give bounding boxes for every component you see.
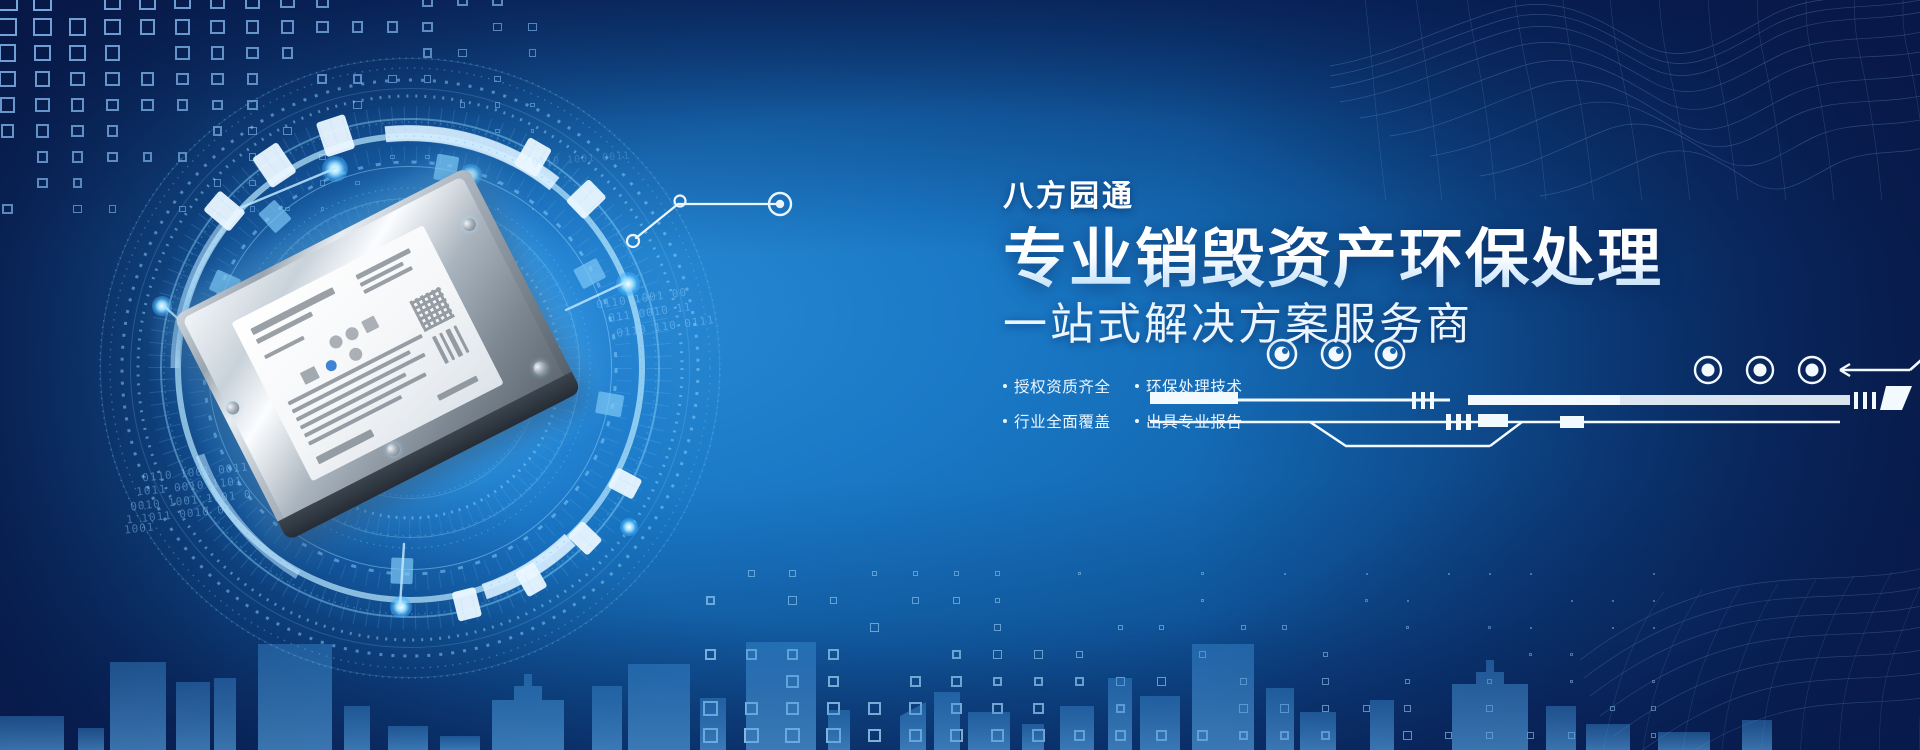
- feature-label: 环保处理技术: [1146, 375, 1243, 397]
- grid-square: [174, 0, 191, 9]
- connector-node-end-dot: [776, 200, 784, 208]
- grid-square: [316, 21, 328, 33]
- grid-square: [35, 98, 49, 112]
- grid-square: [0, 0, 18, 11]
- grid-square: [0, 18, 17, 37]
- grid-square: [528, 23, 536, 31]
- feature-label: 授权资质齐全: [1014, 375, 1111, 397]
- grid-square: [281, 20, 294, 33]
- grid-square: [210, 0, 226, 9]
- bullet-dot-icon: [1135, 384, 1139, 388]
- bullet-dot-icon: [1003, 419, 1007, 423]
- hdd-screw: [461, 216, 478, 233]
- grid-square: [140, 19, 156, 35]
- headline: 专业销毁资产环保处理: [1003, 226, 1763, 293]
- hdd-barcode: [409, 286, 455, 332]
- grid-square: [493, 23, 502, 32]
- feature-item: 环保处理技术: [1135, 375, 1265, 397]
- bullet-dot-icon: [1135, 419, 1139, 423]
- circuit-node: [1799, 357, 1825, 383]
- grid-square: [1, 124, 15, 138]
- feature-label: 行业全面覆盖: [1014, 410, 1111, 432]
- connector-node-start: [627, 235, 639, 247]
- grid-square: [316, 0, 330, 8]
- grid-square: [245, 0, 260, 9]
- banner-copy: 八方园通 专业销毁资产环保处理 一站式解决方案服务商 授权资质齐全环保处理技术行…: [1003, 182, 1763, 445]
- grid-square: [387, 21, 398, 32]
- subheadline: 一站式解决方案服务商: [1003, 301, 1763, 349]
- feature-list: 授权资质齐全环保处理技术行业全面覆盖出具专业报告: [1003, 375, 1303, 432]
- grid-square: [34, 45, 51, 62]
- grid-square: [492, 0, 502, 6]
- grid-square: [33, 18, 51, 36]
- hdd-screw: [224, 399, 241, 416]
- grid-square: [175, 19, 190, 34]
- hdd-screw: [531, 359, 548, 376]
- grid-square: [35, 71, 51, 87]
- grid-square: [280, 0, 294, 8]
- feature-row: 授权资质齐全环保处理技术: [1003, 375, 1303, 397]
- feature-item: 出具专业报告: [1135, 410, 1265, 432]
- connector-line: [600, 150, 860, 260]
- grid-square: [139, 0, 156, 10]
- grid-square: [33, 0, 52, 11]
- feature-item: 授权资质齐全: [1003, 375, 1135, 397]
- grid-square: [104, 19, 121, 36]
- grid-square: [104, 0, 122, 10]
- grid-square: [36, 124, 49, 137]
- grid-square: [0, 97, 15, 112]
- hdd-tech-visual: 0110 1001 0011 1011 0010 1101 0010 1001 …: [60, 48, 760, 688]
- hero-banner: 0110 1001 0011 1011 0010 1101 0010 1001 …: [0, 0, 1920, 750]
- hdd-screw: [384, 441, 401, 458]
- grid-square: [37, 178, 48, 189]
- grid-square: [37, 151, 49, 163]
- grid-square: [0, 44, 16, 62]
- grid-square: [69, 18, 86, 35]
- grid-square: [352, 21, 364, 33]
- feature-item: 行业全面覆盖: [1003, 410, 1135, 432]
- grid-square: [2, 204, 12, 214]
- feature-label: 出具专业报告: [1146, 410, 1243, 432]
- grid-square: [210, 20, 225, 35]
- brand-name: 八方园通: [1003, 182, 1763, 212]
- feature-row: 行业全面覆盖出具专业报告: [1003, 410, 1303, 432]
- grid-square: [422, 22, 432, 32]
- grid-square: [457, 0, 468, 6]
- grid-square: [246, 20, 260, 34]
- wireframe-mesh-top-right: [1330, 0, 1920, 200]
- grid-square: [0, 71, 16, 87]
- grid-square: [422, 0, 434, 7]
- bullet-dot-icon: [1003, 384, 1007, 388]
